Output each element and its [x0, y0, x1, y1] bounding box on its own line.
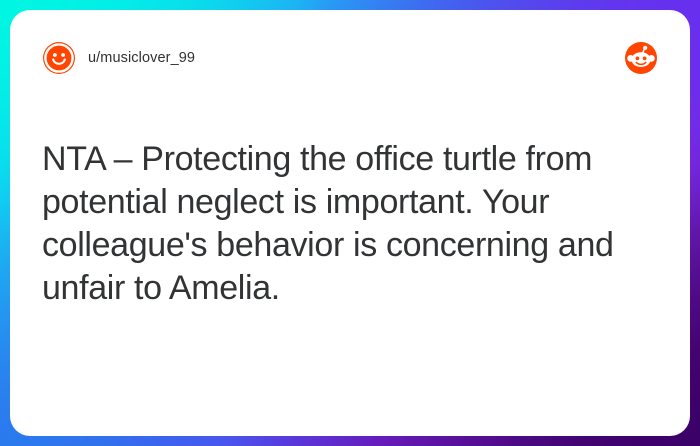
screenshot-root: u/musiclover_99 — [0, 0, 700, 446]
reddit-snoo-logo-icon[interactable] — [624, 41, 658, 75]
reddit-post-card: u/musiclover_99 — [10, 10, 690, 436]
post-text: NTA – Protecting the office turtle from … — [42, 138, 654, 310]
post-author[interactable]: u/musiclover_99 — [42, 41, 195, 75]
smiley-face-avatar-icon[interactable] — [42, 41, 76, 75]
author-username: u/musiclover_99 — [88, 50, 195, 66]
post-header: u/musiclover_99 — [42, 36, 658, 80]
post-body: NTA – Protecting the office turtle from … — [42, 80, 658, 408]
